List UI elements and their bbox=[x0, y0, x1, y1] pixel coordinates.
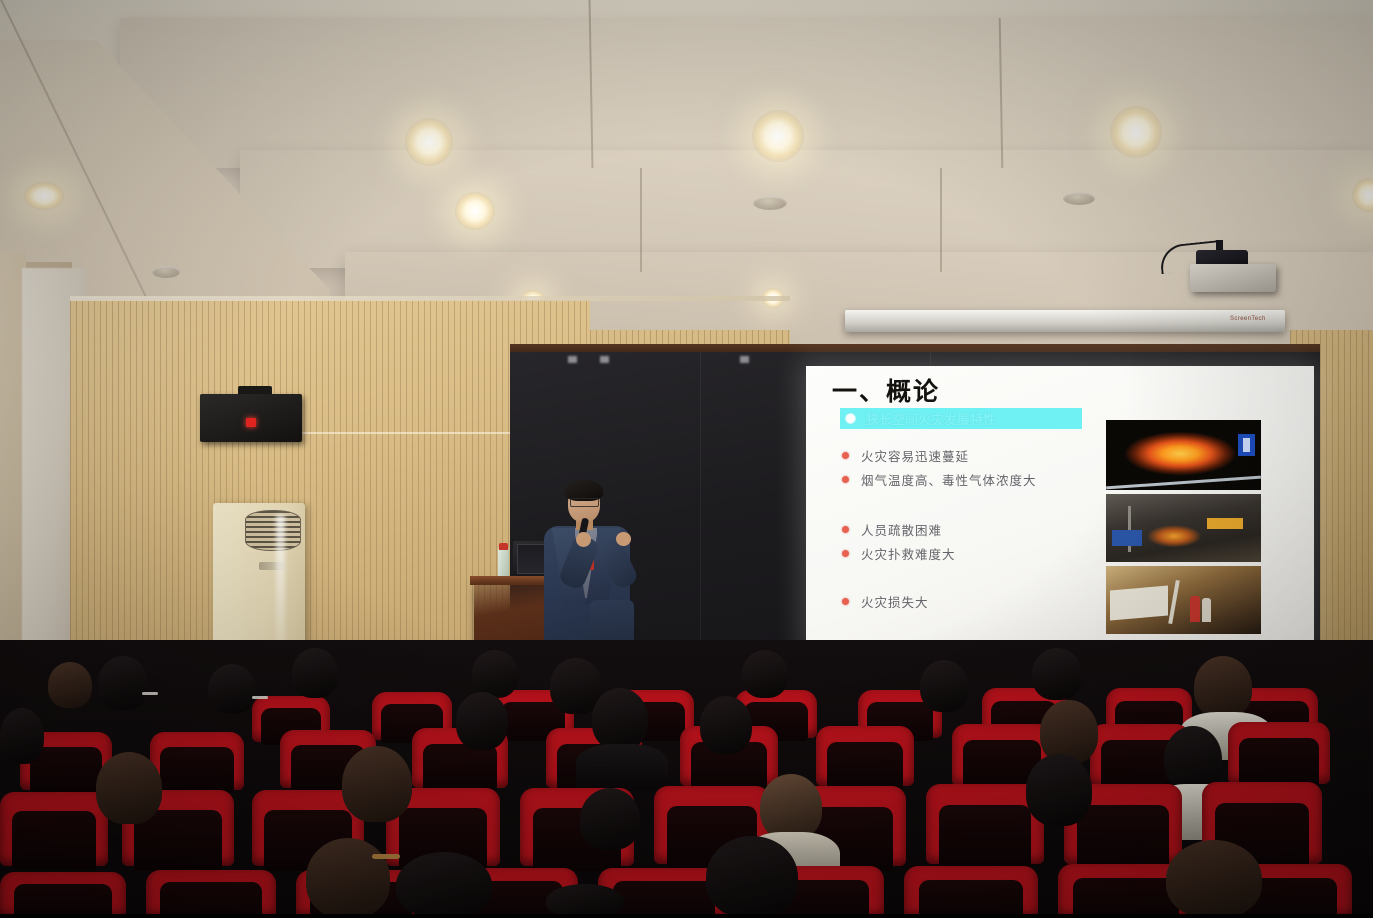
audience-head bbox=[48, 662, 92, 708]
audience-head bbox=[0, 708, 44, 764]
audience-head bbox=[1026, 754, 1092, 826]
ceiling-seam bbox=[640, 168, 642, 272]
seat[interactable] bbox=[816, 726, 914, 786]
slide-photo-tunnel-fire bbox=[1106, 420, 1261, 490]
audience-head bbox=[592, 688, 648, 750]
projection-screen-housing[interactable] bbox=[845, 310, 1285, 332]
circle-outline-icon bbox=[845, 413, 856, 424]
seat[interactable] bbox=[146, 870, 276, 918]
audience-shoulders bbox=[576, 744, 668, 790]
slide-heading-text: 狭长空间火灾发展特性 bbox=[866, 409, 996, 428]
photo-person-white bbox=[1202, 598, 1211, 622]
backdrop-seam bbox=[700, 352, 701, 648]
downlight-icon bbox=[24, 182, 64, 210]
audience-head bbox=[456, 692, 508, 750]
audience-head bbox=[920, 660, 968, 712]
presenter-hand-right bbox=[616, 532, 631, 546]
audience-head bbox=[208, 664, 256, 714]
glasses-icon bbox=[252, 696, 268, 699]
audience-head bbox=[1166, 840, 1262, 918]
photo-wreck-panel bbox=[1110, 585, 1168, 620]
audience-head bbox=[546, 884, 624, 918]
slide-bullet-text: 火灾损失大 bbox=[861, 592, 929, 611]
audience-head bbox=[292, 648, 338, 698]
bullet-dot-icon bbox=[842, 476, 849, 483]
glasses-icon bbox=[142, 692, 158, 695]
slide-bullet-text: 火灾扑救难度大 bbox=[861, 544, 956, 563]
projected-slide: 一、概论 狭长空间火灾发展特性 火灾容易迅速蔓延 烟气温度高、毒性气体浓度大 人… bbox=[806, 366, 1314, 652]
auditorium-photo: ScreenTech 一、概论 狭长空间火灾发展特性 火灾容易迅速蔓延 烟气温度… bbox=[0, 0, 1373, 918]
ceiling-projector bbox=[1190, 264, 1276, 292]
slide-bullet: 人员疏散困难 bbox=[842, 520, 942, 539]
audience-head bbox=[706, 836, 798, 918]
downlight-icon bbox=[405, 118, 453, 166]
photo-yellow-sign bbox=[1207, 518, 1243, 529]
audience-head bbox=[306, 838, 390, 918]
audience-head bbox=[1194, 656, 1252, 718]
audience-area bbox=[0, 640, 1373, 918]
slide-photo-wreckage bbox=[1106, 566, 1261, 634]
photo-road-sign bbox=[1238, 434, 1255, 456]
hair-band bbox=[372, 854, 400, 859]
downlight-off-icon bbox=[1063, 192, 1095, 205]
audience-head bbox=[472, 650, 518, 698]
ac-grille-icon bbox=[245, 510, 301, 551]
presenter-hand-left bbox=[576, 532, 591, 547]
seat[interactable] bbox=[904, 866, 1038, 918]
bullet-dot-icon bbox=[842, 526, 849, 533]
water-bottle bbox=[498, 548, 509, 578]
slide-bullet: 火灾扑救难度大 bbox=[842, 544, 956, 563]
audience-head bbox=[96, 752, 162, 824]
frame-bottom-border bbox=[0, 914, 1373, 918]
photo-road-line bbox=[1106, 476, 1261, 490]
backdrop-highlight bbox=[600, 356, 609, 363]
audience-head bbox=[98, 656, 148, 710]
slide-bullet: 火灾损失大 bbox=[842, 592, 929, 611]
audience-head bbox=[742, 650, 788, 698]
downlight-icon bbox=[752, 110, 804, 162]
slide-photo-highway-smoke bbox=[1106, 494, 1261, 562]
photo-person-red bbox=[1190, 596, 1200, 622]
seat[interactable] bbox=[1228, 722, 1330, 784]
seat[interactable] bbox=[0, 792, 108, 866]
slide-section-heading: 狭长空间火灾发展特性 bbox=[840, 408, 1082, 429]
roller-brand-label: ScreenTech bbox=[1230, 316, 1266, 322]
audience-head bbox=[700, 696, 752, 754]
bullet-dot-icon bbox=[842, 598, 849, 605]
downlight-icon bbox=[455, 192, 495, 230]
slide-bullet: 火灾容易迅速蔓延 bbox=[842, 446, 969, 465]
downlight-icon bbox=[1110, 106, 1162, 158]
audience-head bbox=[396, 852, 492, 918]
bullet-dot-icon bbox=[842, 452, 849, 459]
downlight-off-icon bbox=[152, 266, 180, 278]
speaker-power-led-icon bbox=[246, 418, 256, 427]
ceiling-seam bbox=[940, 168, 942, 272]
seat[interactable] bbox=[150, 732, 244, 790]
bottle-cap bbox=[499, 543, 508, 550]
seat[interactable] bbox=[0, 872, 126, 918]
audience-head bbox=[1040, 700, 1098, 764]
bullet-dot-icon bbox=[842, 550, 849, 557]
audience-head bbox=[342, 746, 412, 822]
slide-bullet-text: 火灾容易迅速蔓延 bbox=[861, 446, 969, 465]
photo-wreck-beam bbox=[1168, 580, 1180, 624]
wall-trim bbox=[70, 296, 790, 301]
slide-bullet: 烟气温度高、毒性气体浓度大 bbox=[842, 470, 1037, 489]
slide-bullet-text: 烟气温度高、毒性气体浓度大 bbox=[861, 470, 1037, 489]
photo-blue-sign bbox=[1112, 530, 1142, 546]
backdrop-highlight bbox=[740, 356, 749, 363]
slide-title: 一、概论 bbox=[832, 372, 940, 408]
glasses-icon bbox=[570, 498, 599, 507]
downlight-off-icon bbox=[753, 196, 787, 210]
backdrop-highlight bbox=[568, 356, 577, 363]
ceiling-panel-2 bbox=[120, 18, 1373, 168]
audience-head bbox=[1032, 648, 1082, 700]
audience-head bbox=[760, 774, 822, 840]
audience-head bbox=[580, 788, 640, 850]
slide-bullet-text: 人员疏散困难 bbox=[861, 520, 942, 539]
